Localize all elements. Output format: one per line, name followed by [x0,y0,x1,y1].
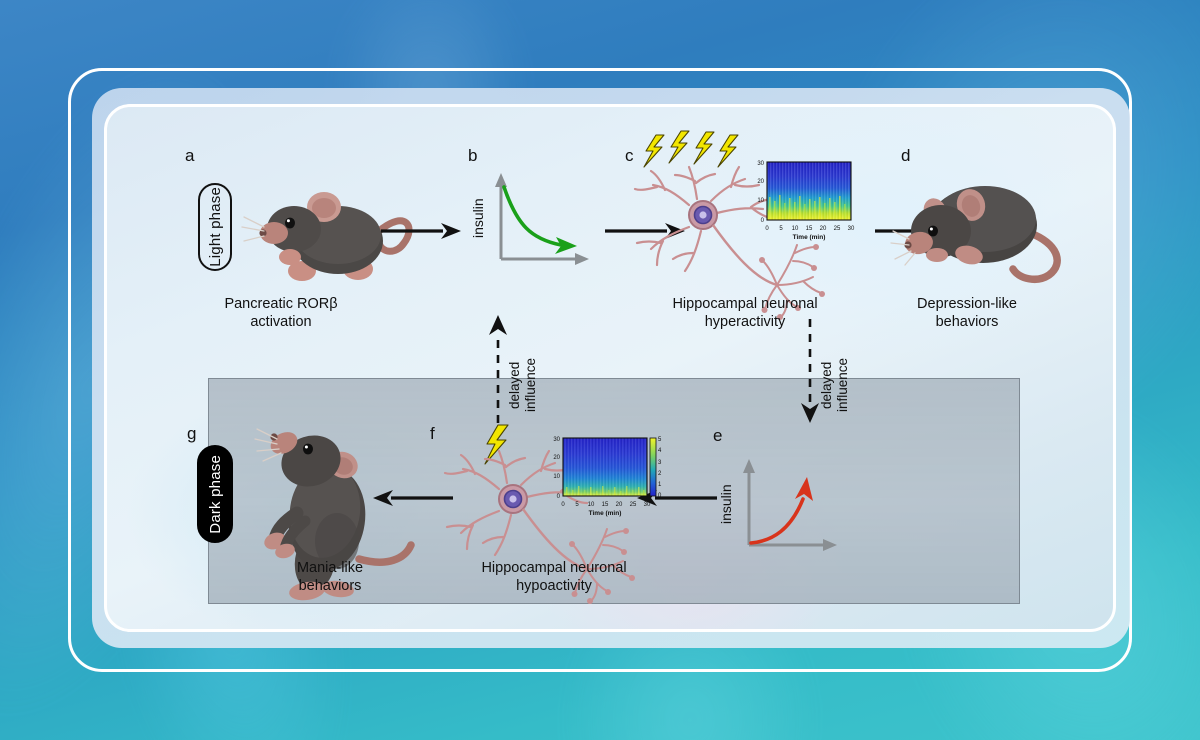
svg-text:20: 20 [553,455,560,461]
svg-text:3: 3 [658,460,662,466]
panel-g-caption: Mania-like behaviors [225,559,435,595]
svg-text:20: 20 [757,179,764,185]
svg-text:0: 0 [557,494,561,500]
panel-d-caption: Depression-like behaviors [847,295,1087,331]
diagram-panel: a Light phase [104,104,1116,632]
panel-letter-g: g [187,425,196,442]
arrow-f-to-b-label: delayed influence [507,339,539,431]
panel-letter-b: b [468,147,477,164]
figure-canvas: a Light phase [0,0,1200,740]
insulin-decrease-graph [487,169,597,267]
panel-letter-a: a [185,147,194,164]
light-phase-badge: Light phase [198,183,232,271]
svg-text:10: 10 [588,502,595,508]
spectrogram-hypoactivity: 30 20 10 0 0 5 10 15 20 25 30 Time (min)… [539,433,669,521]
svg-text:20: 20 [820,226,827,232]
svg-text:Time (min): Time (min) [793,234,826,241]
svg-text:0: 0 [658,493,662,499]
svg-text:20: 20 [616,502,623,508]
insulin-axis-label-b: insulin [470,183,486,253]
panel-letter-e: e [713,427,722,444]
arrow-a-to-b [379,220,465,242]
svg-text:1: 1 [658,482,662,488]
svg-text:25: 25 [630,502,637,508]
mouse-crouching-icon [897,169,1087,295]
svg-text:15: 15 [602,502,609,508]
dark-phase-badge: Dark phase [197,445,233,543]
svg-text:30: 30 [757,161,764,167]
svg-text:5: 5 [779,226,783,232]
arrow-c-to-e-label: delayed influence [819,339,851,431]
svg-text:25: 25 [834,226,841,232]
panel-f-caption: Hippocampal neuronal hypoactivity [429,559,679,595]
svg-text:5: 5 [658,437,662,443]
svg-text:10: 10 [553,474,560,480]
panel-a-caption: Pancreatic RORβ activation [165,295,397,331]
svg-text:2: 2 [658,471,662,477]
insulin-increase-graph [735,455,845,553]
svg-text:4: 4 [658,448,662,454]
svg-text:10: 10 [792,226,799,232]
svg-text:30: 30 [848,226,855,232]
panel-letter-d: d [901,147,910,164]
insulin-axis-label-e: insulin [718,469,734,539]
dark-phase-label: Dark phase [207,455,224,534]
svg-text:15: 15 [806,226,813,232]
panel-c-caption: Hippocampal neuronal hyperactivity [625,295,865,331]
svg-text:0: 0 [761,218,765,224]
svg-text:10: 10 [757,198,764,204]
light-phase-label: Light phase [207,187,224,267]
panel-letter-f: f [430,425,435,442]
svg-text:Time (min): Time (min) [589,510,622,517]
spectrogram-hyperactivity: 30 20 10 0 0 5 10 15 20 25 30 Time (min) [743,157,859,245]
svg-text:0: 0 [561,502,565,508]
svg-text:30: 30 [644,502,651,508]
svg-text:30: 30 [553,437,560,443]
svg-text:5: 5 [575,502,579,508]
svg-text:0: 0 [765,226,769,232]
